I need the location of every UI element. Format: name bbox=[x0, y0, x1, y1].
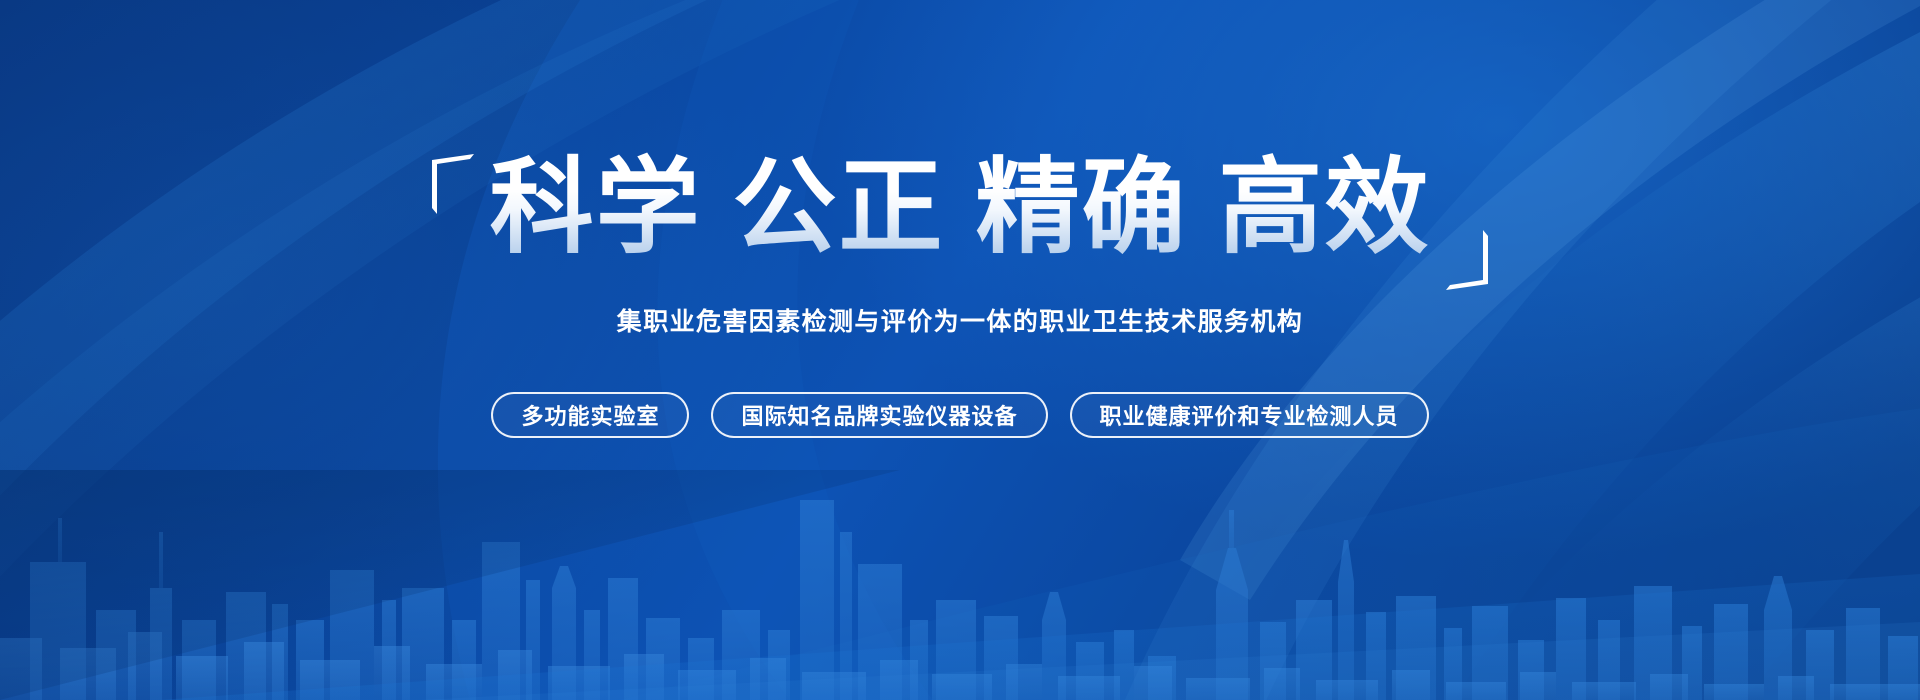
feature-pill-group: 多功能实验室 国际知名品牌实验仪器设备 职业健康评价和专业检测人员 bbox=[491, 392, 1428, 438]
hero-banner: 科学 公正 精确 高效 集职业危害因素检测与评价为一体的职业卫生技术服务机构 多… bbox=[0, 0, 1920, 700]
headline-row: 科学 公正 精确 高效 bbox=[430, 150, 1491, 280]
banner-subtitle: 集职业危害因素检测与评价为一体的职业卫生技术服务机构 bbox=[617, 302, 1303, 338]
banner-content: 科学 公正 精确 高效 集职业危害因素检测与评价为一体的职业卫生技术服务机构 多… bbox=[0, 0, 1920, 700]
corner-bracket-open-icon bbox=[430, 150, 476, 280]
feature-pill-personnel[interactable]: 职业健康评价和专业检测人员 bbox=[1070, 392, 1429, 438]
feature-pill-equipment[interactable]: 国际知名品牌实验仪器设备 bbox=[711, 392, 1047, 438]
page-title: 科学 公正 精确 高效 bbox=[476, 150, 1445, 266]
corner-bracket-close-icon bbox=[1444, 150, 1490, 280]
feature-pill-lab[interactable]: 多功能实验室 bbox=[491, 392, 689, 438]
